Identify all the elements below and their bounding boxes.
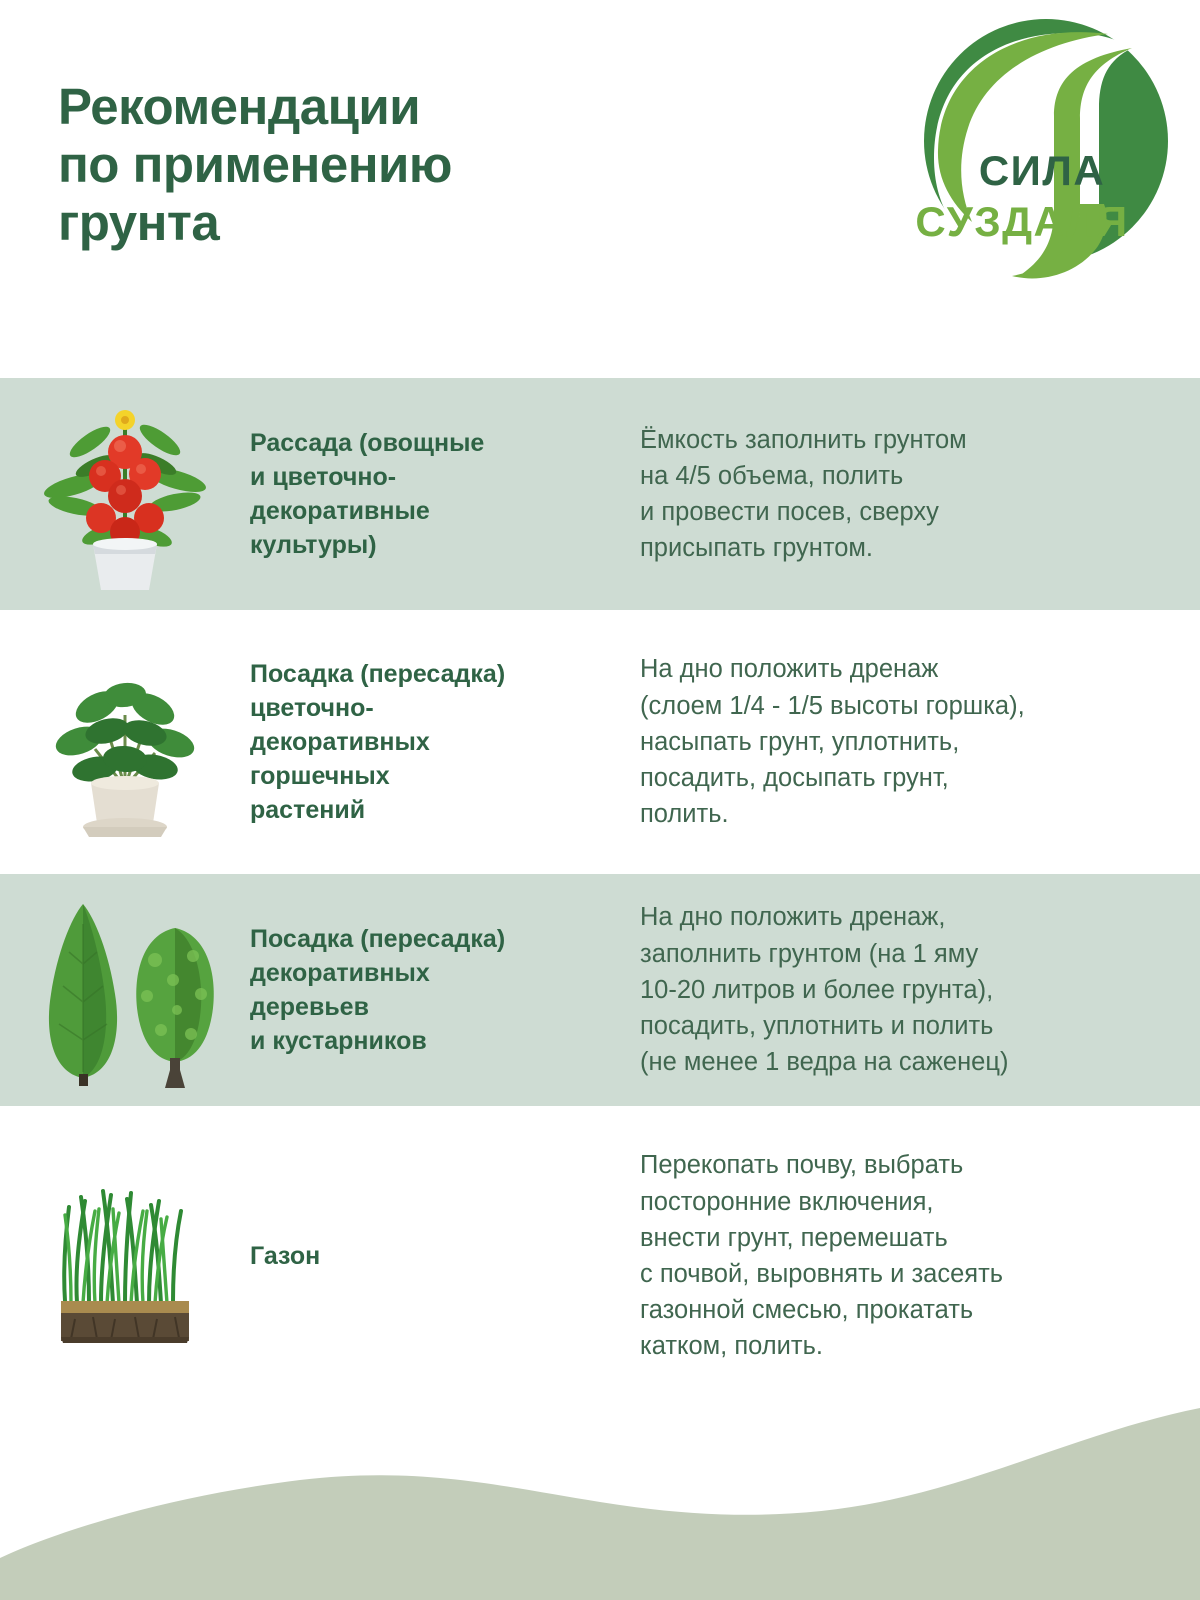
page-header: Рекомендации по применению грунта СИЛА С…: [0, 0, 1200, 378]
table-row: Газон Перекопать почву, выбрать посторон…: [0, 1106, 1200, 1406]
trees-and-shrubs-image: [0, 874, 250, 1106]
row-description: Ёмкость заполнить грунтом на 4/5 объема,…: [640, 422, 1200, 567]
recommendations-table: Рассада (овощные и цветочно- декоративны…: [0, 378, 1200, 1406]
bottom-wave-decoration: [0, 1390, 1200, 1600]
page-title: Рекомендации по применению грунта: [58, 78, 452, 252]
lawn-grass-sod-image: [0, 1106, 250, 1406]
logo-text-suzdalya: СУЗДАЛЯ: [915, 198, 1128, 245]
table-row: Посадка (пересадка) цветочно- декоративн…: [0, 610, 1200, 874]
row-description: Перекопать почву, выбрать посторонние вк…: [640, 1147, 1200, 1364]
row-description: На дно положить дренаж (слоем 1/4 - 1/5 …: [640, 651, 1200, 832]
wave-shape-icon: [0, 1408, 1200, 1600]
brand-logo: СИЛА СУЗДАЛЯ: [894, 8, 1184, 293]
potted-houseplant-image: [0, 610, 250, 874]
row-label: Посадка (пересадка) декоративных деревье…: [250, 922, 640, 1058]
table-row: Рассада (овощные и цветочно- декоративны…: [0, 378, 1200, 610]
tomato-plant-in-pot-image: [0, 378, 250, 610]
logo-text-sila: СИЛА: [979, 147, 1105, 194]
row-label: Посадка (пересадка) цветочно- декоративн…: [250, 657, 640, 827]
row-label: Газон: [250, 1239, 640, 1273]
table-row: Посадка (пересадка) декоративных деревье…: [0, 874, 1200, 1106]
row-label: Рассада (овощные и цветочно- декоративны…: [250, 426, 640, 562]
row-description: На дно положить дренаж, заполнить грунто…: [640, 899, 1200, 1080]
